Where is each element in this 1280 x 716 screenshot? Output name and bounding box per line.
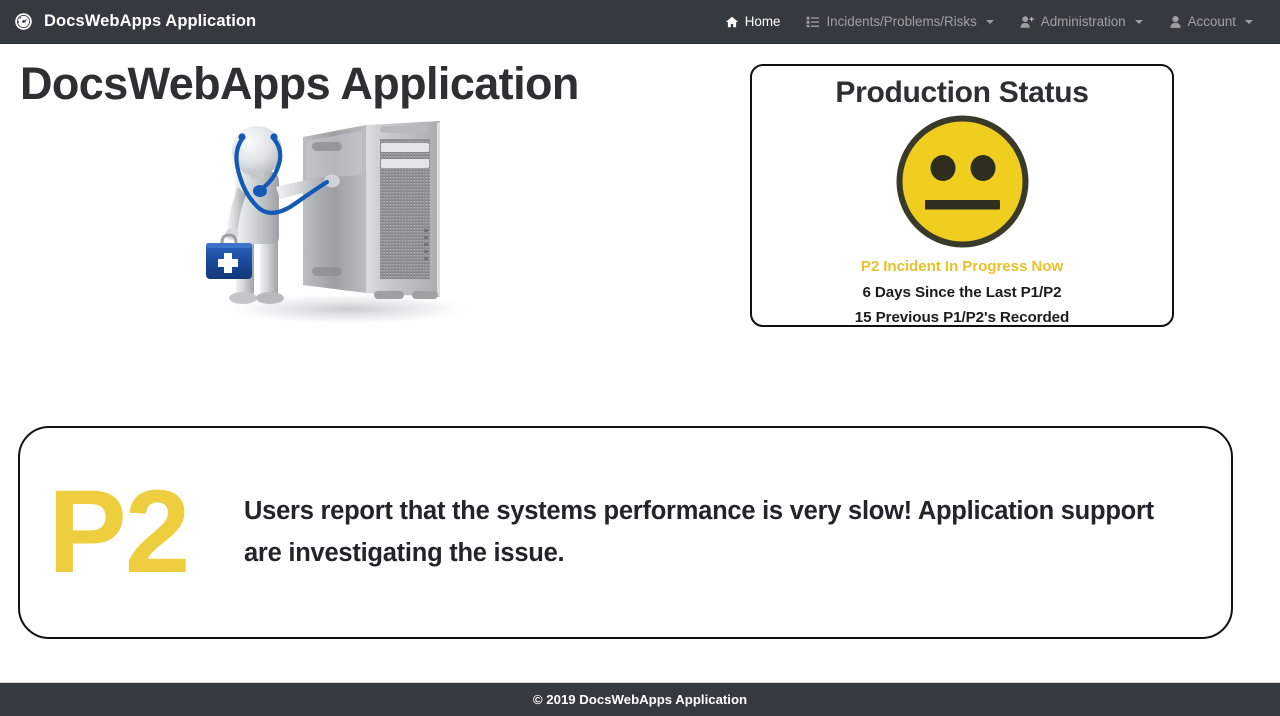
nav-item-incidents-label: Incidents/Problems/Risks (826, 14, 976, 29)
left-column: DocsWebApps Application (18, 60, 718, 355)
page-footer: © 2019 DocsWebApps Application (0, 682, 1280, 716)
top-navbar: DocsWebApps Application Home (0, 0, 1280, 44)
chevron-down-icon (1245, 20, 1253, 24)
chevron-down-icon (986, 20, 994, 24)
production-status-alert-line: P2 Incident In Progress Now (861, 254, 1063, 280)
tachometer-icon (14, 12, 33, 31)
production-status-title: Production Status (835, 76, 1088, 110)
footer-copyright: © 2019 DocsWebApps Application (533, 692, 747, 707)
user-icon (1169, 15, 1182, 29)
neutral-face-icon (893, 112, 1032, 251)
production-status-days-line: 6 Days Since the Last P1/P2 (862, 280, 1061, 306)
incident-priority-code: P2 (44, 484, 244, 581)
incident-alert-message: Users report that the systems performanc… (244, 491, 1205, 574)
top-row: DocsWebApps Application (18, 44, 1262, 355)
nav-item-home[interactable]: Home (712, 10, 794, 33)
nav-item-account[interactable]: Account (1156, 10, 1266, 33)
navbar-brand-label: DocsWebApps Application (44, 12, 256, 31)
main-content: DocsWebApps Application (0, 44, 1280, 682)
home-icon (725, 15, 739, 29)
list-icon (806, 15, 820, 29)
navbar-links: Home Incidents/Problems/Risks (712, 10, 1266, 33)
chevron-down-icon (1135, 20, 1143, 24)
nav-item-administration-label: Administration (1041, 14, 1126, 29)
nav-item-administration[interactable]: Administration (1007, 10, 1156, 33)
page-title: DocsWebApps Application (18, 60, 718, 109)
user-plus-icon (1020, 15, 1035, 29)
production-status-previous-line: 15 Previous P1/P2's Recorded (855, 305, 1069, 331)
navbar-brand[interactable]: DocsWebApps Application (14, 12, 256, 31)
nav-item-incidents[interactable]: Incidents/Problems/Risks (793, 10, 1006, 33)
technician-diagnosing-computer-illustration (188, 337, 488, 354)
production-status-panel: Production Status P2 Incident In Progres… (750, 64, 1174, 327)
nav-item-account-label: Account (1188, 14, 1236, 29)
nav-item-home-label: Home (745, 14, 781, 29)
app-page: DocsWebApps Application Home (0, 0, 1280, 716)
incident-alert-banner: P2 Users report that the systems perform… (18, 426, 1233, 639)
hero-image-wrapper (18, 115, 718, 355)
computer-tower (303, 121, 440, 299)
